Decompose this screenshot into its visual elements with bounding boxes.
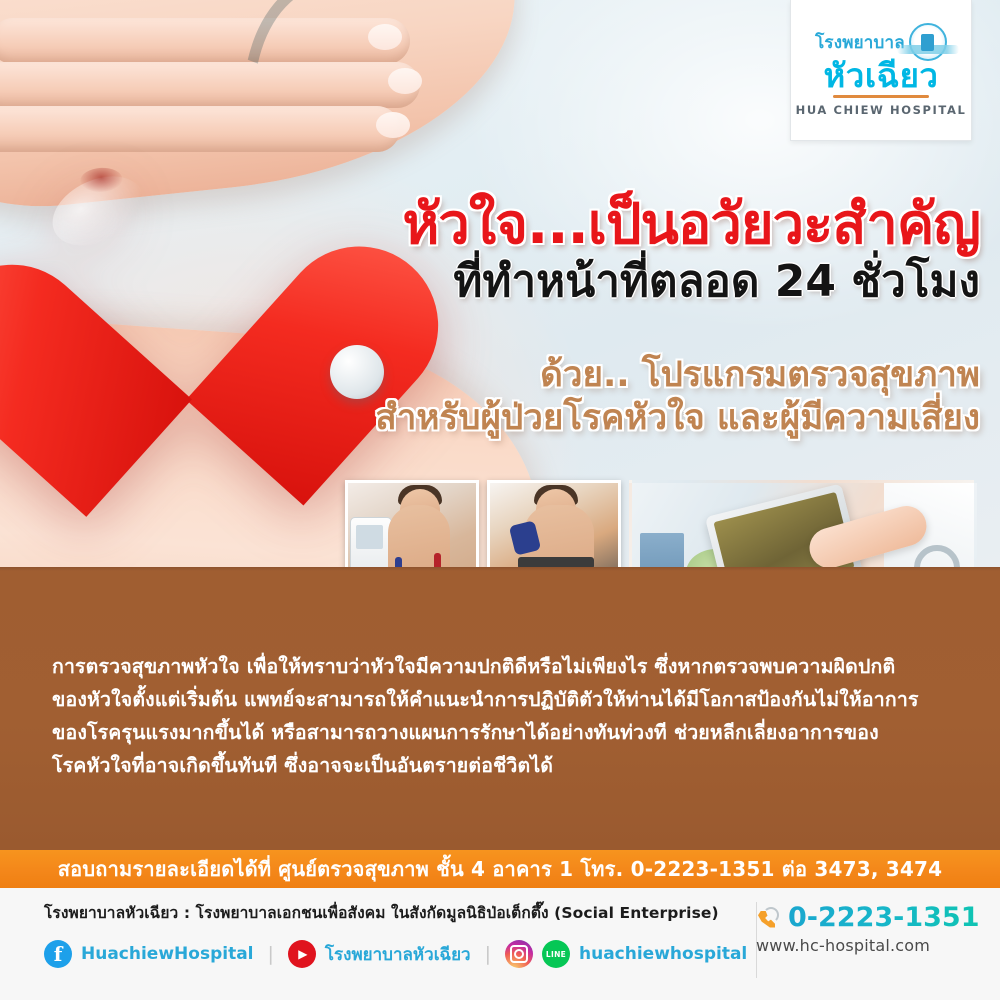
line-handle[interactable]: huachiewhospital <box>579 944 747 964</box>
body-line: ของหัวใจตั้งแต่เริ่มต้น แพทย์จะสามารถให้… <box>52 683 952 716</box>
telephone-icon <box>756 906 780 930</box>
facebook-icon[interactable]: f <box>44 940 72 968</box>
logo-thai-small: โรงพยาบาล <box>815 29 905 56</box>
phone-number[interactable]: 0-2223-1351 <box>788 904 980 931</box>
hospital-logo-card: โรงพยาบาล หัวเฉียว HUA CHIEW HOSPITAL <box>790 0 972 141</box>
poster-canvas: หัวใจ...เป็นอวัยวะสำคัญ ที่ทำหน้าที่ตลอด… <box>0 0 1000 1000</box>
subheadline-block: ด้วย.. โปรแกรมตรวจสุขภาพ สำหรับผู้ป่วยโร… <box>300 355 980 440</box>
subheadline-line-2: สำหรับผู้ป่วยโรคหัวใจ และผู้มีความเสี่ยง <box>300 398 980 439</box>
facebook-handle[interactable]: HuachiewHospital <box>81 944 254 964</box>
logo-thai-big: หัวเฉียว <box>824 59 939 92</box>
body-line: โรคหัวใจที่อาจเกิดขึ้นทันที ซึ่งอาจจะเป็… <box>52 749 952 782</box>
photo-thumbnail-strip <box>345 480 977 567</box>
headline-block: หัวใจ...เป็นอวัยวะสำคัญ ที่ทำหน้าที่ตลอด… <box>330 196 980 306</box>
phone-row: 0-2223-1351 <box>756 904 976 931</box>
headline-line-1: หัวใจ...เป็นอวัยวะสำคัญ <box>330 196 980 253</box>
body-line: ของโรครุนแรงมากขึ้นได้ หรือสามารถวางแผนก… <box>52 716 952 749</box>
social-divider: | <box>485 943 491 965</box>
contact-info-bar: สอบถามรายละเอียดได้ที่ ศูนย์ตรวจสุขภาพ ช… <box>0 850 1000 888</box>
band-top-edge <box>0 567 1000 571</box>
subheadline-line-1: ด้วย.. โปรแกรมตรวจสุขภาพ <box>300 355 980 396</box>
body-line: การตรวจสุขภาพหัวใจ เพื่อให้ทราบว่าหัวใจม… <box>52 650 952 683</box>
logo-underline-rule <box>833 95 929 98</box>
thumbnail-stress-test <box>487 480 621 567</box>
headline-line-2: ที่ทำหน้าที่ตลอด 24 ชั่วโมง <box>330 259 980 306</box>
footer-bar: โรงพยาบาลหัวเฉียว : โรงพยาบาลเอกชนเพื่อส… <box>0 888 1000 1000</box>
footer-left-column: โรงพยาบาลหัวเฉียว : โรงพยาบาลเอกชนเพื่อส… <box>44 900 744 968</box>
thumbnail-ekg-resting <box>345 480 479 567</box>
instagram-icon[interactable] <box>505 940 533 968</box>
line-badge-label: LINE <box>546 950 566 959</box>
line-icon[interactable]: LINE <box>542 940 570 968</box>
hospital-crest-icon <box>909 23 947 61</box>
youtube-icon[interactable]: ▶ <box>288 940 316 968</box>
social-links-row: f HuachiewHospital | ▶ โรงพยาบาลหัวเฉียว… <box>44 940 744 968</box>
footer-tagline: โรงพยาบาลหัวเฉียว : โรงพยาบาลเอกชนเพื่อส… <box>44 900 744 925</box>
hero-photo-region: หัวใจ...เป็นอวัยวะสำคัญ ที่ทำหน้าที่ตลอด… <box>0 0 1000 567</box>
footer-right-column: 0-2223-1351 www.hc-hospital.com <box>756 904 976 955</box>
thumbnail-doctor-tablet <box>629 480 977 567</box>
body-paragraph: การตรวจสุขภาพหัวใจ เพื่อให้ทราบว่าหัวใจม… <box>52 650 952 782</box>
social-divider: | <box>268 943 274 965</box>
website-url[interactable]: www.hc-hospital.com <box>756 936 976 955</box>
logo-english-name: HUA CHIEW HOSPITAL <box>796 103 967 117</box>
contact-bar-text: สอบถามรายละเอียดได้ที่ ศูนย์ตรวจสุขภาพ ช… <box>58 853 943 885</box>
youtube-handle[interactable]: โรงพยาบาลหัวเฉียว <box>325 941 471 968</box>
